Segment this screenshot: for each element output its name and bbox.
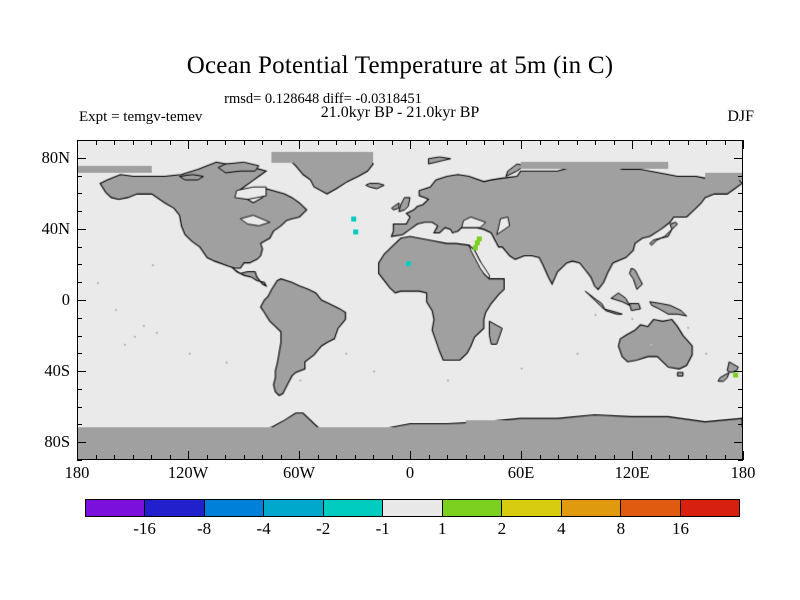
xtick-top--80	[262, 140, 263, 145]
xtick-top--110	[207, 140, 208, 145]
ytick-right--30	[738, 353, 743, 354]
ytick-right-70	[738, 176, 743, 177]
xtick-bottom-10	[429, 455, 430, 460]
ytick-left-20	[77, 264, 82, 265]
xtick-top-60	[521, 140, 522, 149]
xtick-top--50	[318, 140, 319, 145]
xtick-bottom--90	[244, 455, 245, 460]
ytick-left-90	[77, 140, 82, 141]
xtick-top--60	[299, 140, 300, 149]
xtick-top-140	[669, 140, 670, 145]
ytick-right-0	[734, 300, 743, 301]
ytick-left--50	[77, 389, 82, 390]
xtick-top-160	[706, 140, 707, 145]
xtick-top--20	[373, 140, 374, 145]
ytick-right--80	[734, 442, 743, 443]
ytick-left--20	[77, 336, 82, 337]
xtick-bottom--180	[77, 451, 78, 460]
colorbar-tick--1: -1	[376, 519, 390, 539]
ytick-left--30	[77, 353, 82, 354]
xtick-top--10	[392, 140, 393, 145]
xtick-top-50	[503, 140, 504, 145]
colorbar-swatch-6	[443, 500, 502, 516]
ytick-left--10	[77, 318, 82, 319]
xtick-bottom-30	[466, 455, 467, 460]
xaxis-label-120E: 120E	[615, 463, 650, 483]
xtick-top--30	[355, 140, 356, 145]
ytick-right-10	[738, 282, 743, 283]
colorbar-swatch-0	[86, 500, 145, 516]
xtick-top-130	[651, 140, 652, 145]
xtick-bottom--30	[355, 455, 356, 460]
xtick-top-170	[725, 140, 726, 145]
xtick-bottom--100	[225, 455, 226, 460]
ytick-left-80	[77, 158, 86, 159]
xtick-bottom--130	[170, 455, 171, 460]
colorbar-tick-16: 16	[672, 519, 689, 539]
xtick-bottom--20	[373, 455, 374, 460]
yaxis-label-80N: 80N	[42, 148, 70, 168]
xtick-top-40	[484, 140, 485, 145]
yaxis-label-0: 0	[62, 290, 70, 310]
ytick-left--40	[77, 371, 86, 372]
experiment-label: Expt = temgv-temev	[79, 109, 202, 126]
xtick-top--160	[114, 140, 115, 145]
yaxis-label-40N: 40N	[42, 219, 70, 239]
ytick-left-0	[77, 300, 86, 301]
xtick-top-10	[429, 140, 430, 145]
xtick-bottom-180	[743, 451, 744, 460]
ytick-right-40	[734, 229, 743, 230]
colorbar-tick--16: -16	[133, 519, 156, 539]
page-title: Ocean Potential Temperature at 5m (in C)	[0, 52, 800, 80]
colorbar-tick-2: 2	[498, 519, 507, 539]
season-label: DJF	[727, 108, 754, 126]
xtick-top--40	[336, 140, 337, 145]
xtick-top-150	[688, 140, 689, 145]
ytick-right--40	[734, 371, 743, 372]
xtick-top-70	[540, 140, 541, 145]
xtick-top--150	[133, 140, 134, 145]
ytick-left--60	[77, 407, 82, 408]
xaxis-label-60W: 60W	[283, 463, 315, 483]
colorbar-swatch-5	[383, 500, 442, 516]
colorbar-swatch-8	[562, 500, 621, 516]
xtick-top--70	[281, 140, 282, 145]
xtick-top-20	[447, 140, 448, 145]
map-plot-area	[77, 140, 743, 460]
ytick-left-40	[77, 229, 86, 230]
xaxis-label-60E: 60E	[508, 463, 535, 483]
xtick-bottom--160	[114, 455, 115, 460]
ytick-left--80	[77, 442, 86, 443]
ytick-right-60	[738, 193, 743, 194]
xtick-top-0	[410, 140, 411, 149]
xtick-top-110	[614, 140, 615, 145]
xtick-bottom--80	[262, 455, 263, 460]
xtick-top--170	[96, 140, 97, 145]
colorbar-swatch-3	[264, 500, 323, 516]
xtick-bottom--110	[207, 455, 208, 460]
colorbar-swatch-1	[145, 500, 204, 516]
ytick-left--90	[77, 460, 82, 461]
ytick-right--60	[738, 407, 743, 408]
colorbar-tick--8: -8	[197, 519, 211, 539]
yaxis-label-80S: 80S	[44, 432, 70, 452]
xtick-bottom-70	[540, 455, 541, 460]
ytick-left-30	[77, 247, 82, 248]
xtick-bottom-80	[558, 455, 559, 460]
xtick-bottom-140	[669, 455, 670, 460]
colorbar-tick-labels: -16-8-4-2-1124816	[85, 519, 740, 545]
xtick-bottom--70	[281, 455, 282, 460]
ytick-right-90	[738, 140, 743, 141]
xtick-bottom-50	[503, 455, 504, 460]
ytick-left-60	[77, 193, 82, 194]
xtick-bottom--120	[188, 451, 189, 460]
colorbar-swatch-9	[621, 500, 680, 516]
xtick-top--130	[170, 140, 171, 145]
xtick-top-120	[632, 140, 633, 149]
colorbar-swatch-2	[205, 500, 264, 516]
colorbar-swatch-7	[502, 500, 561, 516]
xtick-bottom-130	[651, 455, 652, 460]
xtick-bottom--150	[133, 455, 134, 460]
colorbar-tick-1: 1	[438, 519, 447, 539]
xtick-bottom-170	[725, 455, 726, 460]
world-temperature-map	[78, 141, 742, 459]
ytick-right-80	[734, 158, 743, 159]
xtick-top-180	[743, 140, 744, 149]
xtick-top--90	[244, 140, 245, 145]
xtick-top--140	[151, 140, 152, 145]
xtick-top--100	[225, 140, 226, 145]
colorbar-swatch-10	[681, 500, 739, 516]
ytick-left-50	[77, 211, 82, 212]
xtick-bottom--140	[151, 455, 152, 460]
xtick-bottom-40	[484, 455, 485, 460]
xtick-top--180	[77, 140, 78, 149]
ytick-right--10	[738, 318, 743, 319]
yaxis-label-40S: 40S	[44, 361, 70, 381]
xtick-bottom--10	[392, 455, 393, 460]
ytick-left--70	[77, 424, 82, 425]
ytick-right--20	[738, 336, 743, 337]
colorbar-tick--4: -4	[257, 519, 271, 539]
colorbar-tick-8: 8	[617, 519, 626, 539]
ytick-right--90	[738, 460, 743, 461]
colorbar-tick--2: -2	[316, 519, 330, 539]
xtick-bottom-150	[688, 455, 689, 460]
xtick-top-80	[558, 140, 559, 145]
xtick-bottom-110	[614, 455, 615, 460]
xtick-top-100	[595, 140, 596, 145]
xtick-top--120	[188, 140, 189, 149]
xtick-bottom-90	[577, 455, 578, 460]
colorbar-swatch-4	[324, 500, 383, 516]
ytick-right--50	[738, 389, 743, 390]
ytick-right-30	[738, 247, 743, 248]
ytick-right-50	[738, 211, 743, 212]
xaxis-label-180: 180	[65, 463, 90, 483]
colorbar-tick-4: 4	[557, 519, 566, 539]
xtick-bottom-120	[632, 451, 633, 460]
xtick-bottom--40	[336, 455, 337, 460]
ytick-left-10	[77, 282, 82, 283]
xtick-bottom-20	[447, 455, 448, 460]
xtick-bottom-160	[706, 455, 707, 460]
xtick-bottom--170	[96, 455, 97, 460]
xtick-bottom--60	[299, 451, 300, 460]
xtick-bottom-100	[595, 455, 596, 460]
ytick-right-20	[738, 264, 743, 265]
xtick-bottom--50	[318, 455, 319, 460]
ytick-left-70	[77, 176, 82, 177]
xtick-top-90	[577, 140, 578, 145]
ytick-right--70	[738, 424, 743, 425]
xaxis-label-180: 180	[731, 463, 756, 483]
xtick-top-30	[466, 140, 467, 145]
xaxis-label-0: 0	[406, 463, 414, 483]
xtick-bottom-60	[521, 451, 522, 460]
xaxis-label-120W: 120W	[168, 463, 208, 483]
colorbar	[85, 499, 740, 517]
xtick-bottom-0	[410, 451, 411, 460]
